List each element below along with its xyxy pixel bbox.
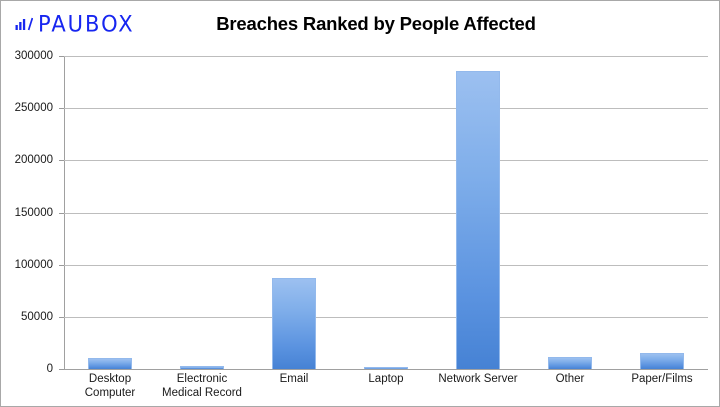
bar-slot bbox=[432, 56, 524, 369]
x-axis-labels: Desktop ComputerElectronic Medical Recor… bbox=[64, 373, 708, 405]
chart-title: Breaches Ranked by People Affected bbox=[1, 13, 720, 35]
bar[interactable] bbox=[272, 278, 316, 369]
bar[interactable] bbox=[640, 353, 684, 369]
x-axis-label: Desktop Computer bbox=[64, 373, 156, 400]
y-axis-tick-label: 150000 bbox=[1, 207, 53, 219]
x-axis-label: Email bbox=[248, 373, 340, 387]
y-axis-tick-label: 0 bbox=[1, 363, 53, 375]
x-axis-label: Network Server bbox=[432, 373, 524, 387]
bar[interactable] bbox=[180, 366, 224, 369]
bar[interactable] bbox=[548, 357, 592, 369]
y-axis-tick-label: 100000 bbox=[1, 259, 53, 271]
bar[interactable] bbox=[364, 367, 408, 369]
x-axis-label: Electronic Medical Record bbox=[156, 373, 248, 400]
chart-window: PAUBOX Breaches Ranked by People Affecte… bbox=[0, 0, 720, 407]
y-axis-tick-label: 300000 bbox=[1, 50, 53, 62]
bar-slot bbox=[64, 56, 156, 369]
bar[interactable] bbox=[456, 71, 500, 369]
plot-area: 050000100000150000200000250000300000 bbox=[64, 56, 708, 369]
x-axis-line bbox=[64, 369, 708, 370]
y-axis-tick-label: 250000 bbox=[1, 102, 53, 114]
y-axis-tick-label: 50000 bbox=[1, 311, 53, 323]
bar-slot bbox=[524, 56, 616, 369]
x-axis-label: Paper/Films bbox=[616, 373, 708, 387]
bar[interactable] bbox=[88, 358, 132, 369]
bar-slot bbox=[156, 56, 248, 369]
bar-slot bbox=[248, 56, 340, 369]
tick-mark bbox=[59, 369, 64, 370]
y-axis-tick-label: 200000 bbox=[1, 154, 53, 166]
x-axis-label: Other bbox=[524, 373, 616, 387]
x-axis-label: Laptop bbox=[340, 373, 432, 387]
bars-layer bbox=[64, 56, 708, 369]
bar-slot bbox=[340, 56, 432, 369]
bar-slot bbox=[616, 56, 708, 369]
chart-header: PAUBOX Breaches Ranked by People Affecte… bbox=[1, 1, 720, 47]
